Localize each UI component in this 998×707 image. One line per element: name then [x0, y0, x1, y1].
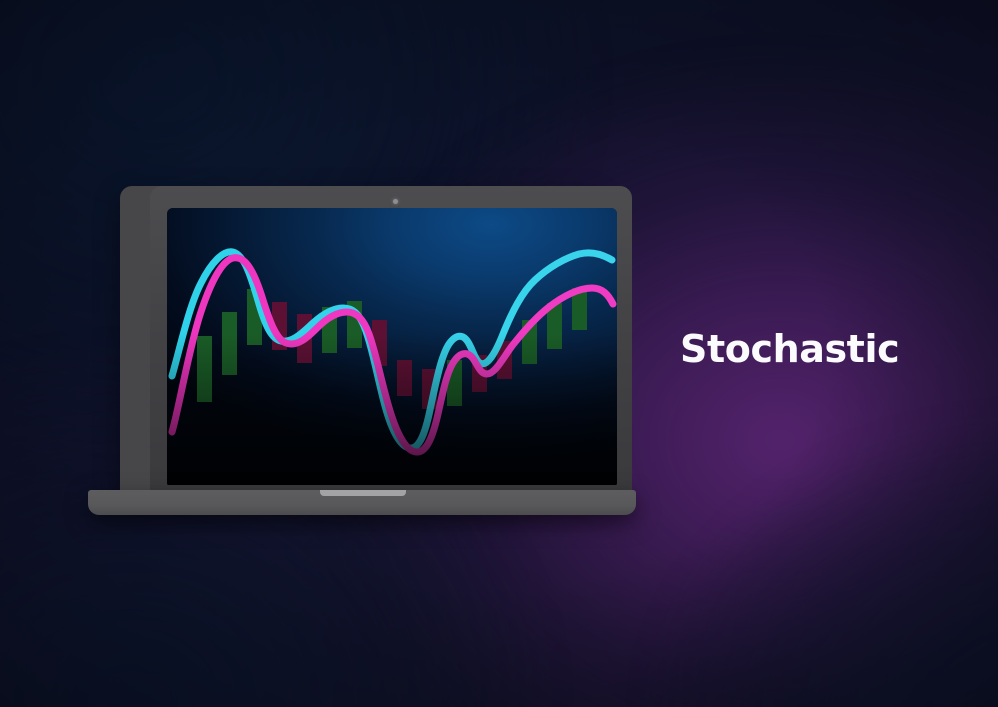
- laptop-screen: [167, 208, 617, 485]
- page-title: Stochastic: [680, 327, 899, 371]
- laptop-base-notch: [320, 490, 406, 496]
- laptop-base: [88, 490, 636, 515]
- screen-shadow-overlay: [167, 208, 617, 485]
- webcam-icon: [393, 199, 398, 204]
- laptop-mockup: [88, 186, 636, 516]
- laptop-lid: [120, 186, 598, 494]
- poster-canvas: Stochastic: [0, 0, 998, 707]
